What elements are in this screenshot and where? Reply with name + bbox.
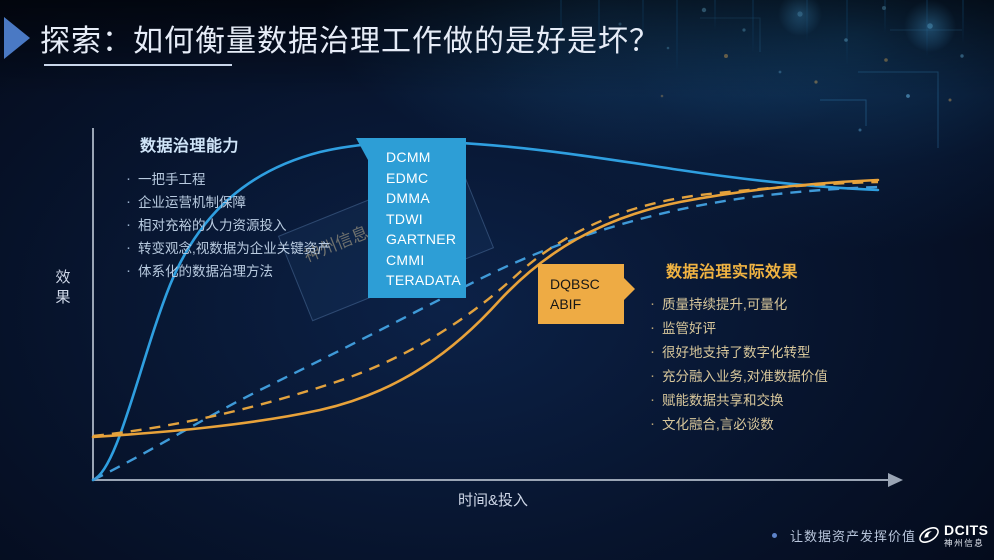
logo-mark-icon [918,524,940,546]
logo-name: DCITS [944,522,989,538]
callout-notch-icon [356,138,368,160]
effects-heading: 数据治理实际效果 [666,258,828,282]
company-logo: DCITS 神州信息 [918,521,990,551]
standard-label: CMMI [386,250,466,271]
list-item: 质量持续提升,可量化 [648,293,828,317]
list-item: 赋能数据共享和交换 [648,389,828,413]
capability-heading: 数据治理能力 [140,132,331,156]
x-axis-label: 时间&投入 [458,489,528,510]
metrics-callout: DQBSC ABIF [538,264,624,324]
list-item: 监管好评 [648,317,828,341]
callout-notch-icon [624,278,635,300]
footer-tagline: 让数据资产发挥价值 [790,526,916,545]
metric-label: DQBSC [550,276,600,292]
footer-bullet-icon [772,533,777,538]
y-axis-label: 效果 [52,268,74,308]
list-item: 很好地支持了数字化转型 [648,341,828,365]
list-item: 充分融入业务,对准数据价值 [648,365,828,389]
standard-label: DCMM [386,147,466,168]
standard-label: GARTNER [386,229,466,250]
list-item: 文化融合,言必谈数 [648,413,828,437]
metric-label: ABIF [550,296,581,312]
list-item: 转变观念,视数据为企业关键资产 [124,237,331,260]
list-item: 企业运营机制保障 [124,191,331,214]
standard-label: TDWI [386,209,466,230]
list-item: 一把手工程 [124,168,331,191]
capability-block: 数据治理能力 一把手工程 企业运营机制保障 相对充裕的人力资源投入 转变观念,视… [124,132,331,283]
effects-list: 质量持续提升,可量化 监管好评 很好地支持了数字化转型 充分融入业务,对准数据价… [648,293,828,437]
list-item: 体系化的数据治理方法 [124,260,331,283]
standard-label: DMMA [386,188,466,209]
standard-label: TERADATA [386,270,466,291]
logo-subtitle: 神州信息 [944,537,984,549]
list-item: 相对充裕的人力资源投入 [124,214,331,237]
capability-list: 一把手工程 企业运营机制保障 相对充裕的人力资源投入 转变观念,视数据为企业关键… [124,168,331,283]
slide-canvas: 探索：如何衡量数据治理工作做的是好是坏？ 效果 时间&投入 神州信息 新方志 [0,0,994,560]
standards-callout: DCMM EDMC DMMA TDWI GARTNER CMMI TERADAT… [368,138,466,298]
effects-block: 数据治理实际效果 质量持续提升,可量化 监管好评 很好地支持了数字化转型 充分融… [648,258,828,437]
standard-label: EDMC [386,168,466,189]
